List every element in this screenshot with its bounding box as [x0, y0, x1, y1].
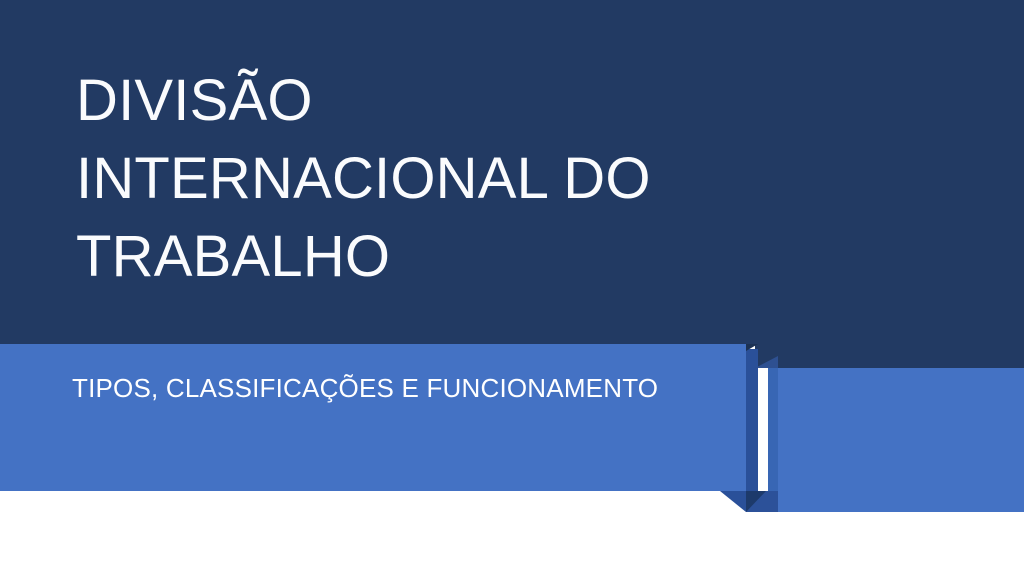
ribbon-fold-notch-top-icon	[746, 344, 758, 351]
title-background-panel-right	[755, 0, 1024, 368]
page-title: DIVISÃO INTERNACIONAL DO TRABALHO	[76, 62, 776, 296]
title-line-1: DIVISÃO	[76, 62, 776, 140]
ribbon-left-fold-edge	[746, 349, 758, 491]
title-line-2: INTERNACIONAL DO	[76, 140, 776, 218]
ribbon-left-band	[0, 344, 746, 491]
ribbon-right-notch-icon	[755, 356, 778, 368]
title-slide: DIVISÃO INTERNACIONAL DO TRABALHO TIPOS,…	[0, 0, 1024, 575]
ribbon-right-band	[778, 368, 1024, 512]
page-subtitle: TIPOS, CLASSIFICAÇÕES E FUNCIONAMENTO	[72, 371, 658, 405]
ribbon-tail-shadow-icon	[746, 491, 766, 512]
ribbon-tail-triangle-icon	[720, 491, 746, 512]
title-line-3: TRABALHO	[76, 218, 776, 296]
